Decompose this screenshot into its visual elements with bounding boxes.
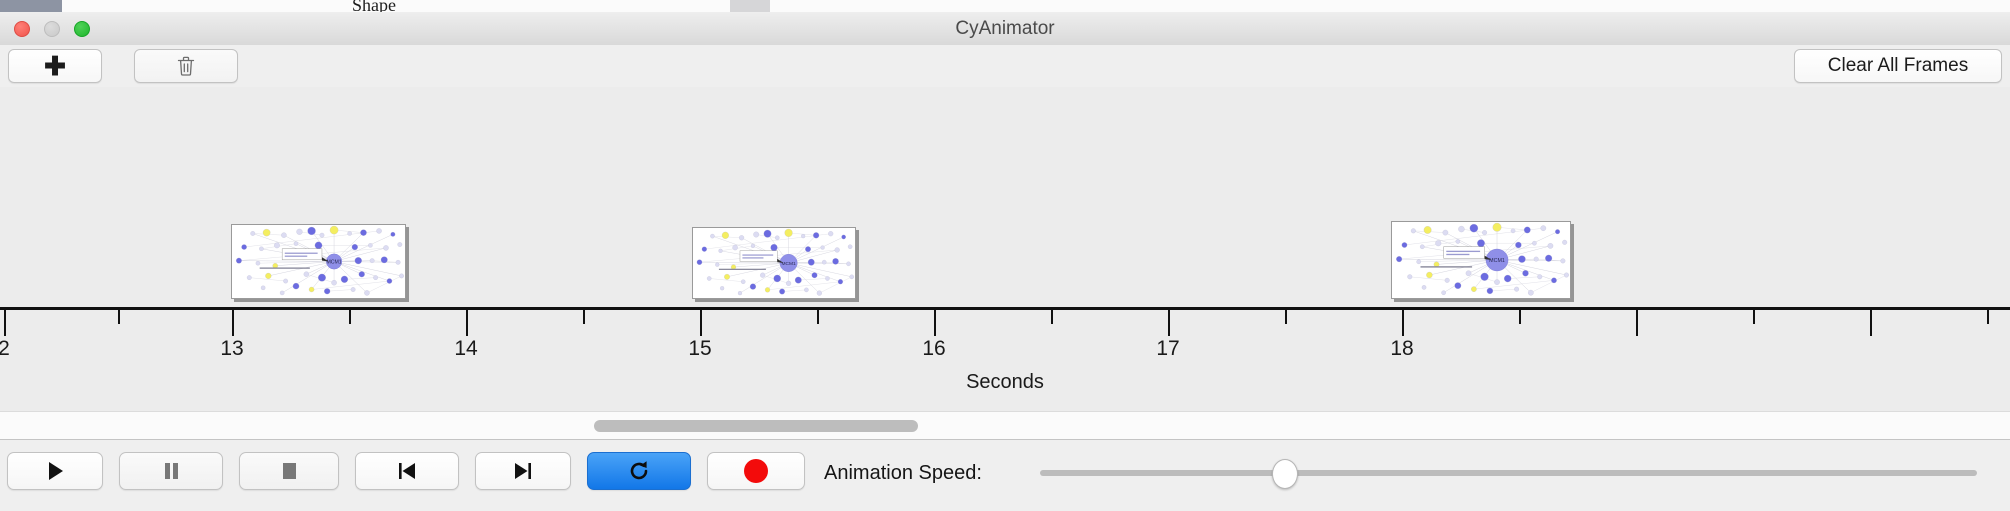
axis-tick bbox=[1753, 310, 1755, 324]
axis-tick bbox=[466, 310, 468, 336]
axis-tick bbox=[1051, 310, 1053, 324]
axis-tick bbox=[583, 310, 585, 324]
frame-thumbnail: MCM1 bbox=[232, 225, 405, 298]
axis-tick bbox=[1870, 310, 1872, 336]
timeline-frame[interactable]: MCM1 bbox=[692, 227, 856, 299]
frame-thumbnail: MCM1 bbox=[1392, 222, 1570, 298]
loop-icon bbox=[627, 459, 651, 483]
bg-chunk bbox=[730, 0, 771, 12]
transport-bar: Animation Speed: bbox=[0, 439, 2010, 511]
timeline-panel[interactable]: MCM1MCM1MCM1 2131415161718 Seconds bbox=[0, 87, 2010, 411]
animation-speed-label: Animation Speed: bbox=[824, 462, 982, 485]
timeline-scrollbar[interactable] bbox=[0, 411, 2010, 440]
bg-chunk bbox=[1820, 0, 2010, 12]
axis-tick bbox=[4, 310, 6, 336]
network-thumbnail: MCM1 bbox=[693, 228, 855, 298]
clear-all-frames-label: Clear All Frames bbox=[1828, 55, 1968, 77]
axis-tick bbox=[349, 310, 351, 324]
loop-button[interactable] bbox=[587, 452, 691, 490]
background-desktop-strip: Shape bbox=[0, 0, 2010, 12]
axis-tick bbox=[118, 310, 120, 324]
toolbar: ✚ Clear All Frames bbox=[0, 45, 2010, 88]
network-thumbnail: MCM1 bbox=[232, 225, 405, 298]
axis-tick bbox=[934, 310, 936, 336]
axis-tick bbox=[1636, 310, 1638, 336]
axis-tick-label: 18 bbox=[1390, 337, 1413, 361]
axis-tick bbox=[1987, 310, 1989, 324]
stop-button[interactable] bbox=[239, 452, 339, 490]
record-button[interactable] bbox=[707, 452, 805, 490]
scrollbar-thumb[interactable] bbox=[594, 420, 918, 432]
svg-text:MCM1: MCM1 bbox=[1489, 258, 1505, 264]
svg-text:MCM1: MCM1 bbox=[326, 259, 341, 265]
axis-tick bbox=[1168, 310, 1170, 336]
axis-tick bbox=[232, 310, 234, 336]
svg-text:MCM1: MCM1 bbox=[781, 261, 796, 267]
bg-chunk bbox=[0, 0, 63, 12]
play-button[interactable] bbox=[7, 452, 103, 490]
network-thumbnail: MCM1 bbox=[1392, 222, 1570, 298]
record-icon bbox=[744, 459, 768, 483]
animation-speed-slider-thumb[interactable] bbox=[1272, 459, 1298, 489]
bg-chunk bbox=[238, 0, 307, 12]
cyanimator-window: Shape CyAnimator ✚ Clear All Frames MCM1… bbox=[0, 0, 2010, 510]
first-frame-button[interactable] bbox=[355, 452, 459, 490]
pause-button[interactable] bbox=[119, 452, 223, 490]
bg-chunk bbox=[62, 0, 143, 12]
stop-icon bbox=[279, 460, 299, 482]
axis-tick-label: 15 bbox=[688, 337, 711, 361]
axis-tick-label: 14 bbox=[454, 337, 477, 361]
bg-chunk bbox=[142, 0, 191, 12]
add-frame-button[interactable]: ✚ bbox=[8, 49, 102, 83]
pause-icon bbox=[161, 460, 181, 482]
axis-tick bbox=[817, 310, 819, 324]
bg-chunk bbox=[770, 0, 1821, 12]
window-title: CyAnimator bbox=[0, 12, 2010, 45]
play-icon bbox=[45, 460, 65, 482]
delete-frame-button[interactable] bbox=[134, 49, 238, 83]
axis-tick-label: 16 bbox=[922, 337, 945, 361]
frame-thumbnail: MCM1 bbox=[693, 228, 855, 298]
clear-all-frames-button[interactable]: Clear All Frames bbox=[1794, 49, 2002, 83]
background-window-text: Shape bbox=[352, 0, 396, 12]
axis-tick-label: 17 bbox=[1156, 337, 1179, 361]
axis-title: Seconds bbox=[0, 371, 2010, 394]
axis-tick bbox=[700, 310, 702, 336]
timeline-frame[interactable]: MCM1 bbox=[1391, 221, 1571, 299]
timeline-axis bbox=[0, 307, 2010, 310]
plus-icon: ✚ bbox=[44, 53, 66, 79]
skip-to-end-icon bbox=[512, 460, 534, 482]
skip-to-start-icon bbox=[396, 460, 418, 482]
axis-tick bbox=[1519, 310, 1521, 324]
timeline-frame[interactable]: MCM1 bbox=[231, 224, 406, 299]
axis-tick-label: 13 bbox=[220, 337, 243, 361]
trash-icon bbox=[176, 55, 196, 77]
axis-tick-label: 2 bbox=[0, 337, 10, 361]
axis-tick bbox=[1402, 310, 1404, 336]
title-bar: CyAnimator bbox=[0, 12, 2010, 46]
bg-chunk bbox=[190, 0, 239, 12]
axis-tick bbox=[1285, 310, 1287, 324]
animation-speed-slider[interactable] bbox=[1040, 470, 1977, 476]
last-frame-button[interactable] bbox=[475, 452, 571, 490]
